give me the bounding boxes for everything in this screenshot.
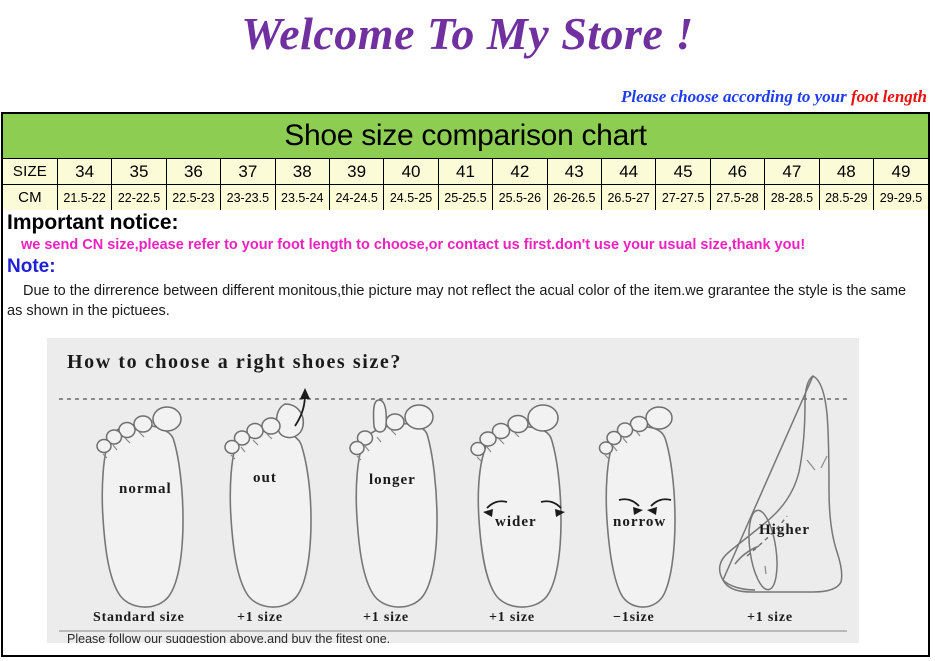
important-notice-heading: Important notice: — [7, 210, 924, 235]
note-text: Due to the dirrerence between different … — [7, 281, 922, 321]
choose-instruction: Please choose according to your foot len… — [621, 87, 927, 107]
table-cell-size: 47 — [765, 159, 819, 185]
foot-label-wider: wider — [495, 514, 537, 530]
foot-size-longer: +1 size — [363, 610, 409, 625]
table-cell-size: 37 — [221, 159, 275, 185]
table-cell-size: 48 — [819, 159, 873, 185]
choose-instruction-highlight: foot length — [851, 87, 927, 106]
table-cell-cm: 22-22.5 — [112, 185, 166, 211]
table-cell-size: 43 — [547, 159, 601, 185]
content-box: Shoe size comparison chart SIZE 34 35 36… — [1, 112, 930, 657]
table-cell-cm: 25.5-26 — [493, 185, 547, 211]
row-header-cm: CM — [3, 185, 57, 211]
foot-label-norrow: norrow — [613, 514, 666, 530]
table-cell-cm: 28.5-29 — [819, 185, 873, 211]
important-notice-text: we send CN size,please refer to your foo… — [21, 235, 924, 255]
table-title: Shoe size comparison chart — [3, 114, 928, 159]
shoe-size-guide-diagram: How to choose a right shoes size? normal… — [47, 338, 859, 643]
shoe-size-comparison-table: Shoe size comparison chart SIZE 34 35 36… — [3, 114, 928, 210]
foot-label-normal: normal — [119, 481, 172, 497]
diagram-footer-text: Please follow our suggestion above,and b… — [67, 632, 390, 643]
table-cell-cm: 26-26.5 — [547, 185, 601, 211]
table-cell-cm: 24-24.5 — [329, 185, 383, 211]
table-title-row: Shoe size comparison chart — [3, 114, 928, 159]
page-title: Welcome To My Store ! — [0, 4, 935, 64]
foot-label-out: out — [253, 470, 277, 486]
table-cell-size: 49 — [874, 159, 929, 185]
table-row-size: SIZE 34 35 36 37 38 39 40 41 42 43 44 45… — [3, 159, 928, 185]
foot-label-higher: Higher — [759, 522, 810, 538]
table-cell-cm: 23-23.5 — [221, 185, 275, 211]
table-cell-size: 41 — [438, 159, 492, 185]
row-header-size: SIZE — [3, 159, 57, 185]
table-cell-size: 44 — [601, 159, 655, 185]
table-cell-cm: 26.5-27 — [601, 185, 655, 211]
foot-size-normal: Standard size — [93, 610, 185, 625]
table-cell-cm: 24.5-25 — [384, 185, 438, 211]
foot-label-longer: longer — [369, 472, 416, 488]
table-cell-cm: 25-25.5 — [438, 185, 492, 211]
foot-size-higher: +1 size — [747, 610, 793, 625]
foot-size-wider: +1 size — [489, 610, 535, 625]
table-cell-cm: 23.5-24 — [275, 185, 329, 211]
table-cell-cm: 27.5-28 — [710, 185, 764, 211]
table-cell-cm: 29-29.5 — [874, 185, 929, 211]
note-heading: Note: — [7, 255, 924, 278]
foot-size-out: +1 size — [237, 610, 283, 625]
table-row-cm: CM 21.5-22 22-22.5 22.5-23 23-23.5 23.5-… — [3, 185, 928, 211]
table-cell-size: 39 — [329, 159, 383, 185]
table-cell-size: 42 — [493, 159, 547, 185]
table-cell-cm: 28-28.5 — [765, 185, 819, 211]
notice-block: Important notice: we send CN size,please… — [3, 210, 928, 321]
diagram-title: How to choose a right shoes size? — [67, 351, 402, 373]
foot-size-norrow: −1size — [613, 610, 655, 625]
table-cell-size: 45 — [656, 159, 710, 185]
table-cell-size: 36 — [166, 159, 220, 185]
table-cell-cm: 21.5-22 — [57, 185, 111, 211]
table-cell-size: 40 — [384, 159, 438, 185]
table-cell-size: 46 — [710, 159, 764, 185]
table-cell-cm: 22.5-23 — [166, 185, 220, 211]
table-cell-size: 35 — [112, 159, 166, 185]
table-cell-size: 34 — [57, 159, 111, 185]
table-cell-size: 38 — [275, 159, 329, 185]
choose-instruction-prefix: Please choose according to your — [621, 87, 851, 106]
table-cell-cm: 27-27.5 — [656, 185, 710, 211]
